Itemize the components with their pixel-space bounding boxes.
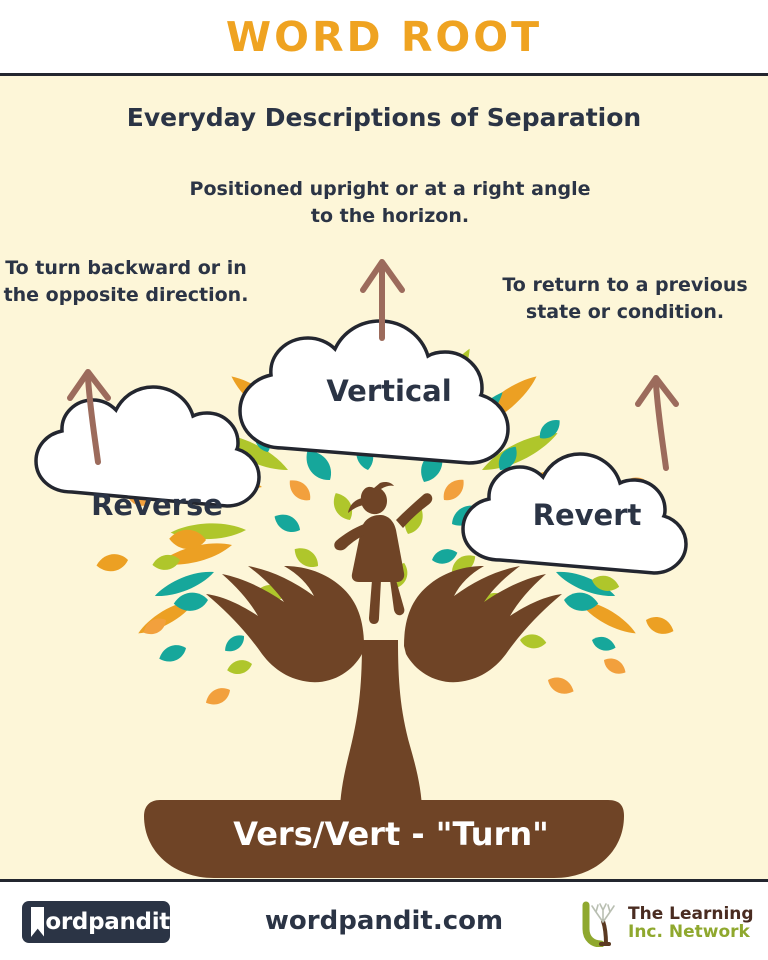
arrow-up-right bbox=[638, 378, 676, 468]
root-banner-text: Vers/Vert - "Turn" bbox=[160, 815, 622, 853]
partner-name-line1: The Learning bbox=[628, 905, 754, 923]
tree-trunk-hands bbox=[206, 566, 562, 812]
learning-network-logo[interactable]: The Learning Inc. Network bbox=[578, 898, 754, 948]
cloud-label-revert: Revert bbox=[466, 498, 708, 532]
cloud-label-reverse: Reverse bbox=[36, 488, 278, 522]
cloud-label-vertical: Vertical bbox=[268, 374, 510, 408]
tree-logo-icon bbox=[578, 899, 624, 947]
infographic-poster: WORD ROOT Everyday Descriptions of Separ… bbox=[0, 0, 768, 960]
partner-name-line2: Inc. Network bbox=[628, 923, 754, 941]
footer-bar: ordpandit wordpandit.com The Learning In… bbox=[0, 879, 768, 960]
